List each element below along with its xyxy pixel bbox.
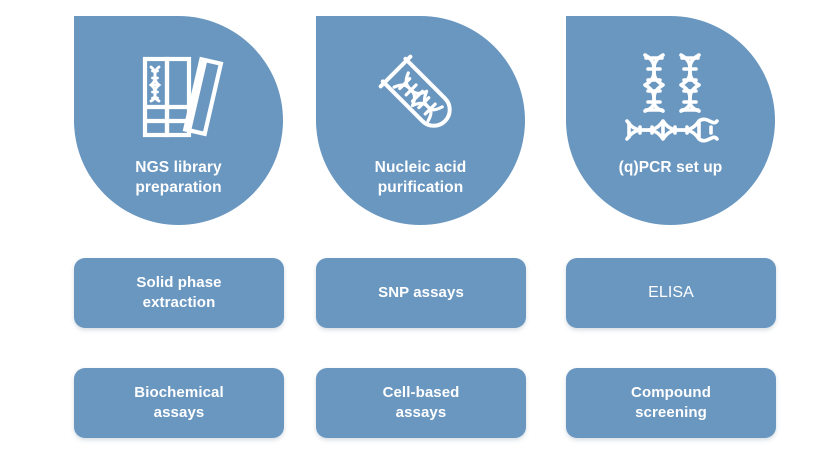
card-snp-assays[interactable]: SNP assays	[316, 258, 526, 328]
card-biochemical-assays[interactable]: Biochemical assays	[74, 368, 284, 438]
card-label: Nucleic acid purification	[326, 158, 516, 199]
card-label: Cell-based assays	[383, 383, 460, 423]
card-label: Compound screening	[631, 383, 711, 423]
card-label: Biochemical assays	[134, 383, 223, 423]
card-label: NGS library preparation	[84, 158, 274, 199]
card-label: (q)PCR set up	[576, 158, 766, 178]
dna-helices-icon	[621, 50, 721, 144]
tube-dna-icon	[373, 50, 469, 144]
card-elisa[interactable]: ELISA	[566, 258, 776, 328]
card-label: SNP assays	[378, 283, 464, 303]
card-compound-screening[interactable]: Compound screening	[566, 368, 776, 438]
card-qpcr-set-up[interactable]: (q)PCR set up	[566, 16, 775, 225]
card-cell-based-assays[interactable]: Cell-based assays	[316, 368, 526, 438]
card-nucleic-acid-purification[interactable]: Nucleic acid purification	[316, 16, 525, 225]
card-label: ELISA	[648, 282, 694, 303]
card-label: Solid phase extraction	[136, 273, 221, 313]
application-workflow-graphic: NGS library preparation	[0, 0, 828, 466]
card-solid-phase-extraction[interactable]: Solid phase extraction	[74, 258, 284, 328]
card-ngs-library-preparation[interactable]: NGS library preparation	[74, 16, 283, 225]
books-dna-icon	[133, 50, 225, 144]
